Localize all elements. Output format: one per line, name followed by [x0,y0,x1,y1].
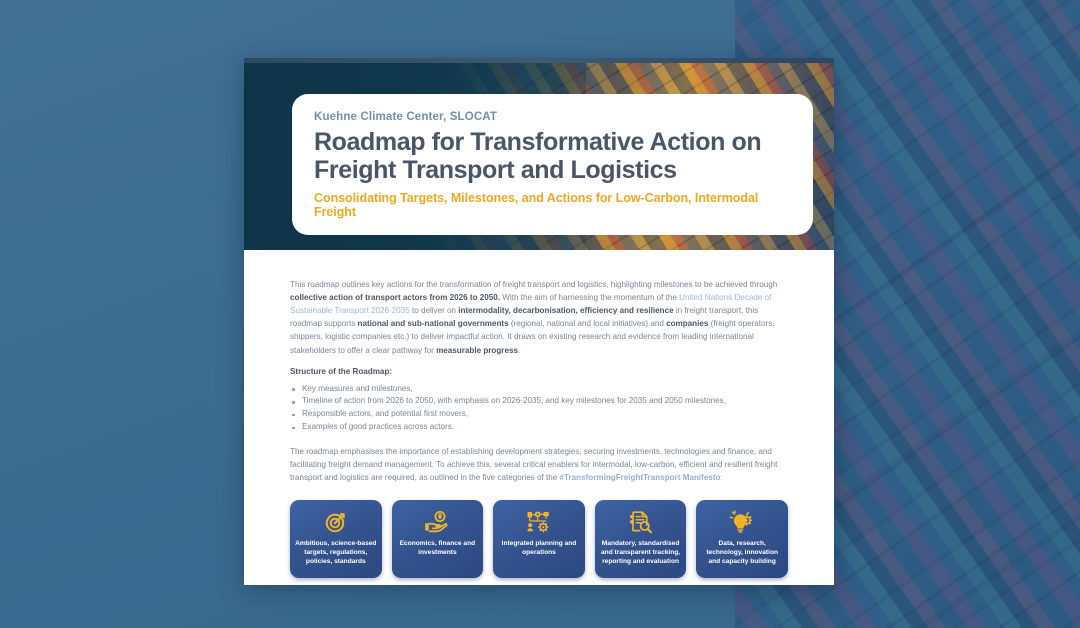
list-item: Timeline of action from 2026 to 2050, wi… [290,395,788,408]
intro-bold-4: companies [666,319,708,328]
network-gear-icon [526,509,552,535]
document-hero-image: Kuehne Climate Center, SLOCAT Roadmap fo… [244,58,834,250]
category-card-economics[interactable]: Economics, finance and investments [392,500,484,578]
closing-paragraph: The roadmap emphasises the importance of… [290,445,788,484]
hand-coin-icon [424,509,450,535]
category-label: Ambitious, science-based targets, regula… [295,540,377,566]
category-card-data-research[interactable]: Data, research, technology, innovation a… [696,500,788,578]
category-label: Mandatory, standardised and transparent … [600,540,682,566]
page-title-line-2: Freight Transport and Logistics [314,156,677,184]
intro-seg-7: . [518,346,520,355]
intro-bold-1: collective action of transport actors fr… [290,293,500,302]
lightbulb-gear-icon [729,509,755,535]
target-icon [324,509,348,535]
intro-seg-2: With the aim of harnessing the momentum … [500,293,679,302]
intro-seg-1: This roadmap outlines key actions for th… [290,280,777,289]
page-title-line-1: Roadmap for Transformative Action on [314,128,761,156]
intro-bold-2: intermodality, decarbonisation, efficien… [458,306,673,315]
list-item: Responsible actors, and potential first … [290,408,788,421]
category-card-targets[interactable]: Ambitious, science-based targets, regula… [290,500,382,578]
document-sheet: Kuehne Climate Center, SLOCAT Roadmap fo… [244,58,834,585]
structure-heading: Structure of the Roadmap: [290,367,788,376]
list-item: Examples of good practices across actors… [290,421,788,434]
category-card-tracking[interactable]: Mandatory, standardised and transparent … [595,500,687,578]
list-item: Key measures and milestones, [290,383,788,396]
category-label: Economics, finance and investments [397,540,479,557]
document-search-icon [629,509,653,535]
intro-bold-3: national and sub-national governments [358,319,509,328]
title-card: Kuehne Climate Center, SLOCAT Roadmap fo… [292,94,813,235]
category-label: Data, research, technology, innovation a… [701,540,783,566]
intro-seg-5: (regional, national and local initiative… [509,319,666,328]
intro-seg-3: to deliver on [410,306,459,315]
intro-paragraph: This roadmap outlines key actions for th… [290,278,788,357]
closing-seg-2: : [721,473,723,482]
structure-bullet-list: Key measures and milestones, Timeline of… [290,383,788,434]
organisation-kicker: Kuehne Climate Center, SLOCAT [314,111,791,123]
page-title: Roadmap for Transformative Action on Fre… [314,128,791,184]
manifesto-hashtag-link[interactable]: #TransformingFreightTransport Manifesto [560,473,721,482]
category-card-row: Ambitious, science-based targets, regula… [244,494,834,578]
hero-top-strip [244,58,834,63]
category-label: Integrated planning and operations [498,540,580,557]
intro-bold-5: measurable progress [436,346,518,355]
page-subtitle: Consolidating Targets, Milestones, and A… [314,191,791,219]
document-body: This roadmap outlines key actions for th… [244,250,834,484]
category-card-planning[interactable]: Integrated planning and operations [493,500,585,578]
